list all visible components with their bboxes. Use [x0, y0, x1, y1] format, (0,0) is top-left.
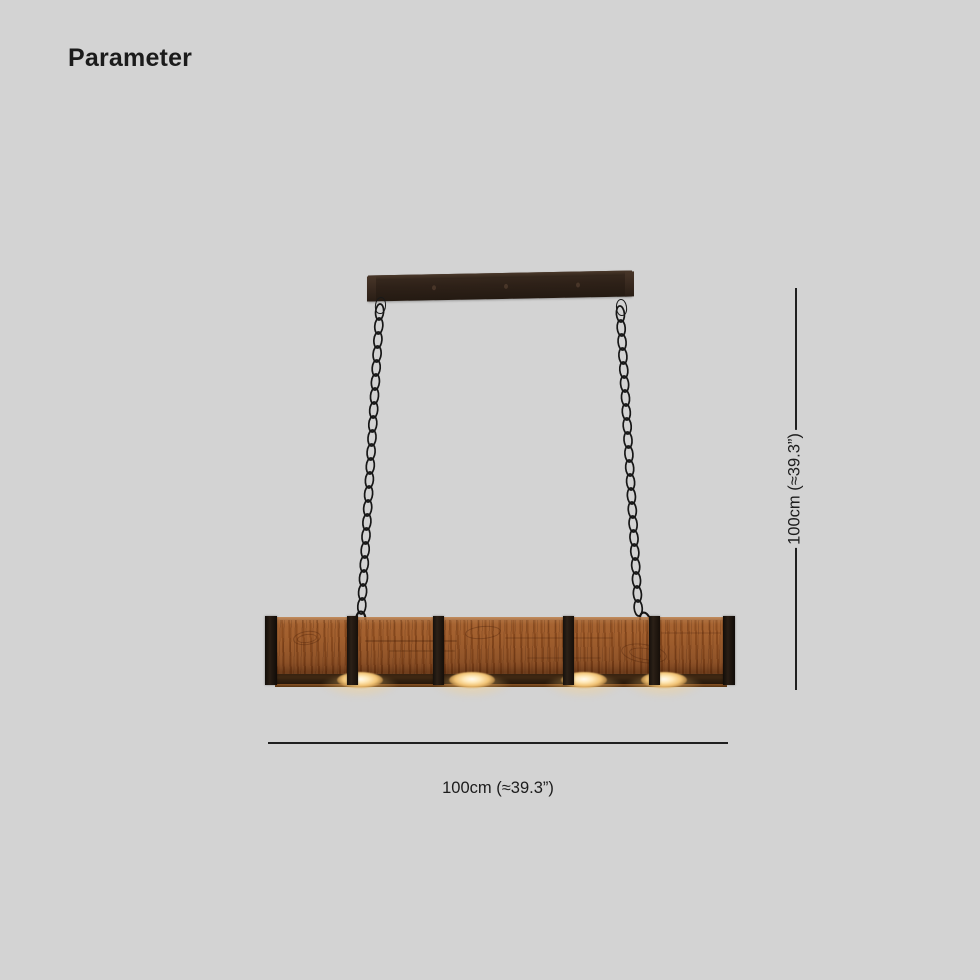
beam-strap [347, 616, 358, 685]
wood-knot [465, 624, 502, 640]
beam-strap [563, 616, 574, 685]
downlight [449, 672, 495, 688]
wood-grain-streak [389, 650, 455, 652]
canopy-screw [576, 282, 580, 287]
chain-right [616, 306, 652, 629]
beam-strap-right-end [723, 616, 735, 685]
canopy-screw [504, 284, 508, 289]
beam-strap-left-end [265, 616, 277, 685]
canopy-end-cap-left [367, 276, 376, 301]
chain-left [356, 304, 384, 627]
beam-assembly [263, 620, 737, 692]
height-dimension-label: 100cm (≈39.3”) [781, 430, 810, 548]
ceiling-canopy [368, 270, 632, 301]
product-illustration [0, 0, 980, 980]
canopy-end-cap-right [625, 271, 634, 296]
chain-group [0, 0, 980, 980]
spec-sheet-canvas: Parameter [0, 0, 980, 980]
canopy-screw [432, 285, 436, 290]
beam-strap [433, 616, 444, 685]
beam-wood-face [269, 620, 731, 674]
beam-strap [649, 616, 660, 685]
downlight [641, 672, 687, 688]
downlight [337, 672, 383, 688]
width-dimension-line [268, 742, 728, 744]
wood-grain-streak [505, 637, 613, 639]
wood-grain-streak [661, 632, 721, 634]
width-dimension-label: 100cm (≈39.3”) [442, 779, 554, 798]
